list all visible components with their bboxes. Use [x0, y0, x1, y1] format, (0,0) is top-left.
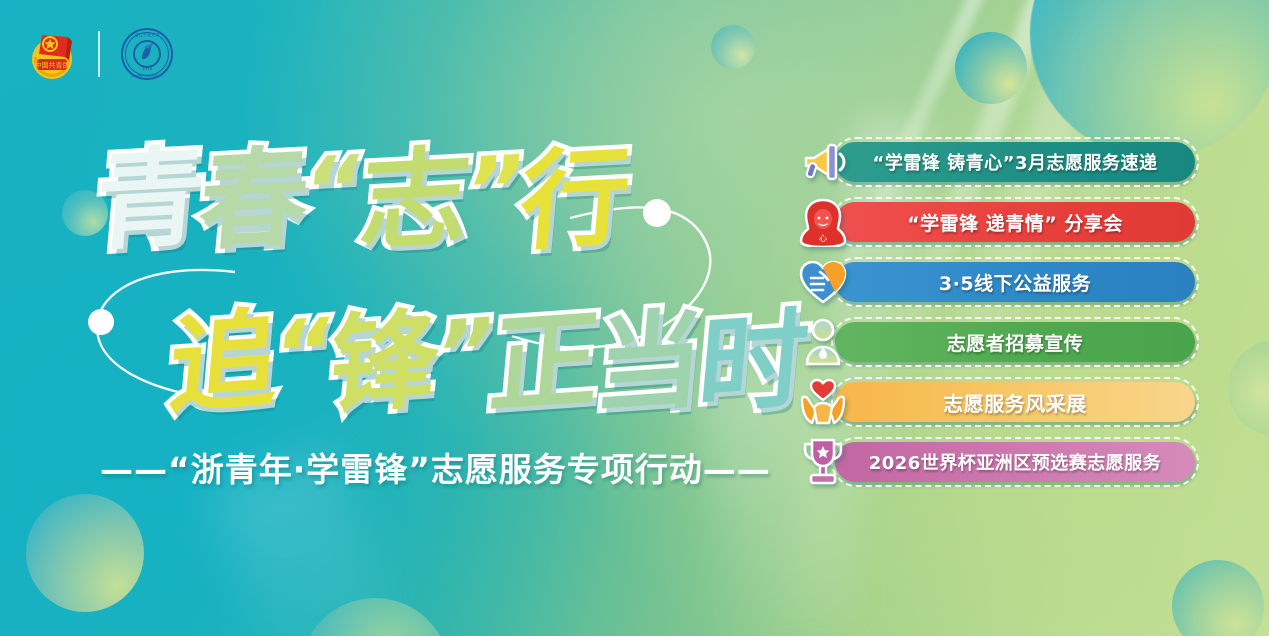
- heart-in-hands-icon: [795, 375, 851, 429]
- activity-item[interactable]: 志愿服务风采展: [795, 372, 1195, 432]
- decorative-sphere: [955, 32, 1027, 104]
- lei-feng-portrait-icon: 心: [795, 195, 851, 249]
- headline-char: 正: [485, 296, 605, 431]
- activity-pill[interactable]: 志愿服务风采展: [835, 382, 1195, 422]
- headline-block: 青春“志”行 追“锋”正当时 ——“浙青年·学雷锋”志愿服务专项行动——: [0, 0, 760, 636]
- activity-pill[interactable]: 2026世界杯亚洲区预选赛志愿服务: [835, 442, 1195, 482]
- poster-canvas: 中国共青团 1918 浙江千禾大学 QIANHE UNIVERSITY 青春“志…: [0, 0, 1269, 636]
- subtitle: ——“浙青年·学雷锋”志愿服务专项行动——: [100, 443, 771, 491]
- decorative-sphere: [1228, 340, 1269, 436]
- svg-text:心: 心: [819, 234, 827, 243]
- headline-char: 春: [194, 134, 314, 267]
- activity-label: 志愿者招募宣传: [947, 329, 1084, 356]
- decorative-sphere: [1172, 560, 1264, 636]
- headline-char: 行: [515, 134, 635, 267]
- headline-line-2: 追“锋”正当时: [170, 300, 803, 427]
- activity-pill[interactable]: “学雷锋 铸青心”3月志愿服务速递: [835, 142, 1195, 182]
- activity-label: 3·5线下公益服务: [939, 269, 1091, 296]
- activity-item[interactable]: 心 “学雷锋 递青情” 分享会: [795, 192, 1195, 252]
- activity-item[interactable]: “学雷锋 铸青心”3月志愿服务速递: [795, 132, 1195, 192]
- activity-item[interactable]: 志愿者招募宣传: [795, 312, 1195, 372]
- activity-label: “学雷锋 铸青心”3月志愿服务速递: [873, 149, 1158, 175]
- activity-label: “学雷锋 递青情” 分享会: [907, 209, 1123, 236]
- volunteer-person-icon: [795, 315, 851, 369]
- headline-char: 锋: [324, 296, 444, 431]
- trophy-icon: [795, 435, 851, 489]
- activity-pill[interactable]: 志愿者招募宣传: [835, 322, 1195, 362]
- heart-hands-icon: [795, 255, 851, 309]
- megaphone-icon: [795, 135, 851, 189]
- headline-char: 追: [164, 296, 284, 431]
- headline-char: 志: [355, 134, 475, 267]
- activity-item[interactable]: 2026世界杯亚洲区预选赛志愿服务: [795, 432, 1195, 492]
- headline-char: 青: [90, 134, 210, 267]
- activity-label: 2026世界杯亚洲区预选赛志愿服务: [869, 449, 1162, 475]
- headline-char: 当: [589, 296, 709, 431]
- activity-label: 志愿服务风采展: [943, 388, 1087, 417]
- headline-line-1: 青春“志”行: [96, 137, 625, 264]
- activity-pill[interactable]: “学雷锋 递青情” 分享会: [835, 202, 1195, 242]
- activity-item[interactable]: 3·5线下公益服务: [795, 252, 1195, 312]
- activity-pill[interactable]: 3·5线下公益服务: [835, 262, 1195, 302]
- activity-list: “学雷锋 铸青心”3月志愿服务速递 心 “学雷锋 递青情” 分享会: [795, 132, 1195, 492]
